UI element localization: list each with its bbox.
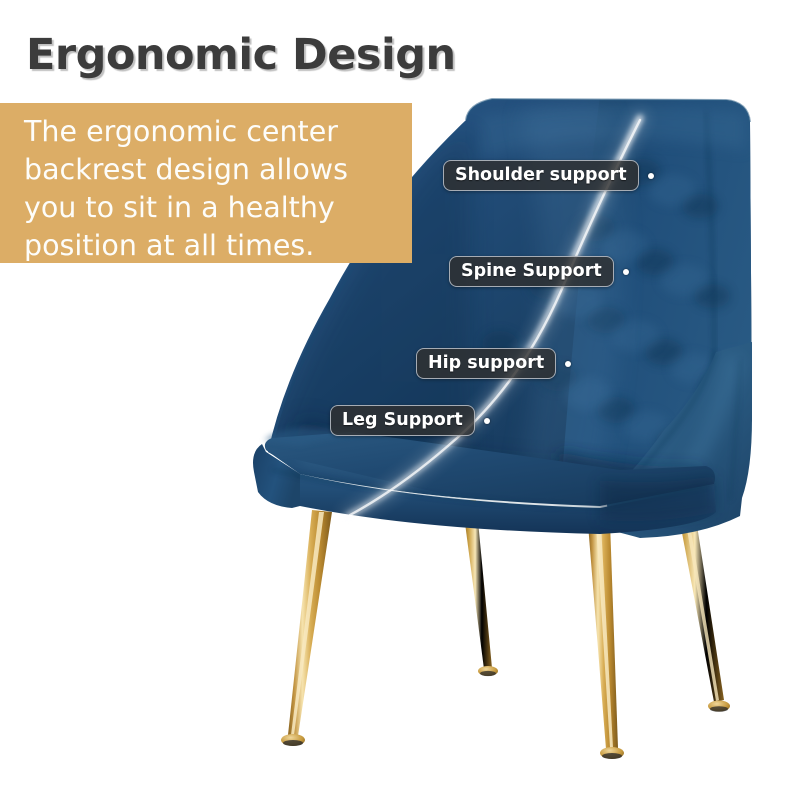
callout-leg-support-label: Leg Support — [330, 405, 475, 436]
description-panel: The ergonomic center backrest design all… — [0, 103, 412, 263]
callout-shoulder-support-dot-icon — [648, 173, 654, 179]
callout-hip-support-label: Hip support — [416, 348, 556, 379]
callout-shoulder-support[interactable]: Shoulder support — [443, 160, 654, 191]
callout-spine-support-label: Spine Support — [449, 256, 614, 287]
callout-spine-support[interactable]: Spine Support — [449, 256, 629, 287]
callout-hip-support-dot-icon — [565, 361, 571, 367]
page-title: Ergonomic Design — [26, 30, 456, 80]
infographic-canvas: Ergonomic Design The ergonomic center ba… — [0, 0, 800, 800]
callout-shoulder-support-label: Shoulder support — [443, 160, 639, 191]
callout-hip-support[interactable]: Hip support — [416, 348, 571, 379]
chair-side-wing — [606, 342, 752, 538]
callout-leg-support[interactable]: Leg Support — [330, 405, 490, 436]
callout-leg-support-dot-icon — [484, 418, 490, 424]
callout-spine-support-dot-icon — [623, 269, 629, 275]
chair-seat — [253, 428, 716, 534]
description-text: The ergonomic center backrest design all… — [24, 113, 396, 265]
chair-legs — [281, 480, 730, 759]
